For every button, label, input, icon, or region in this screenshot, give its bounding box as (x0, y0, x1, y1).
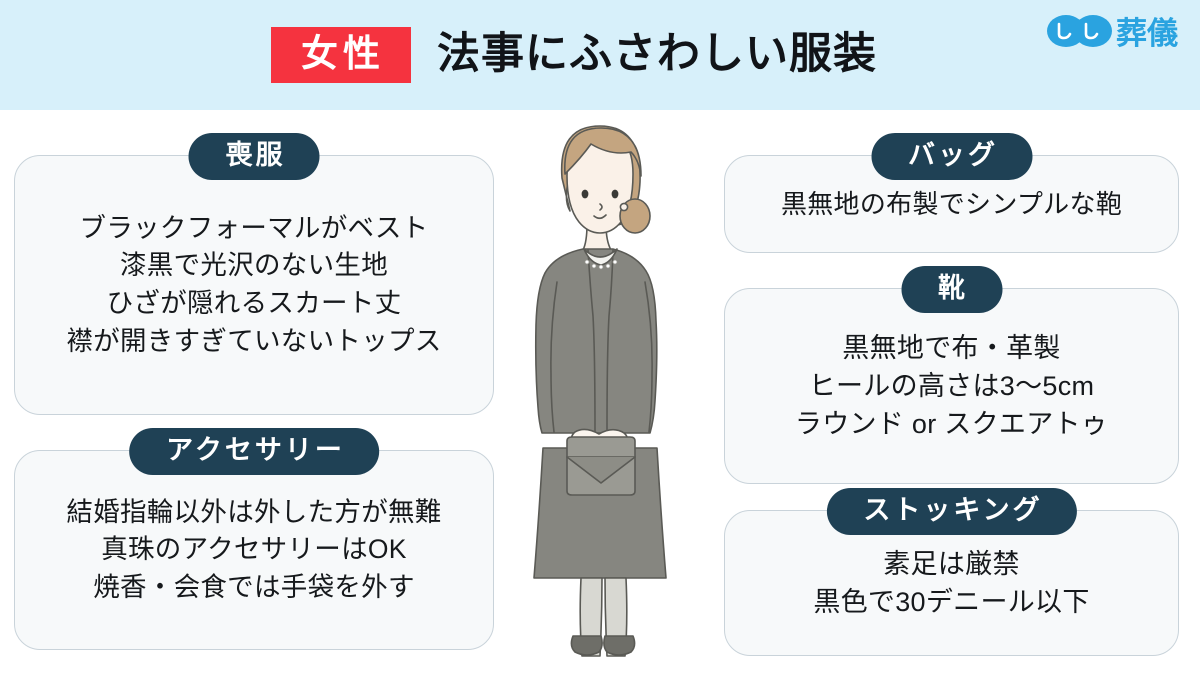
panel-line: 結婚指輪以外は外した方が無難 (15, 494, 493, 532)
panel-shoes: 黒無地で布・革製 ヒールの高さは3〜5cm ラウンド or スクエアトゥ 靴 (724, 266, 1179, 484)
panel-bag: 黒無地の布製でシンプルな鞄 バッグ (724, 133, 1179, 253)
panel-line: ヒールの高さは3〜5cm (725, 367, 1178, 405)
panel-body: 黒無地で布・革製 ヒールの高さは3〜5cm ラウンド or スクエアトゥ (725, 329, 1178, 444)
logo-circles-icon (1047, 14, 1113, 53)
panel-tab-shoes: 靴 (901, 266, 1002, 313)
logo-wordmark: 葬儀 (1116, 18, 1178, 49)
panel-line: 漆黒で光沢のない生地 (15, 247, 493, 285)
panel-card: 黒無地で布・革製 ヒールの高さは3〜5cm ラウンド or スクエアトゥ (724, 288, 1179, 484)
gender-badge: 女性 (271, 27, 411, 84)
panel-line: ひざが隠れるスカート丈 (15, 285, 493, 323)
panel-tab-mofuku: 喪服 (189, 133, 320, 180)
panel-line: 襟が開きすぎていないトップス (15, 323, 493, 361)
panel-tab-accessory: アクセサリー (129, 428, 379, 475)
woman-illustration (505, 112, 695, 657)
header-inner: 女性 法事にふさわしい服装 (271, 27, 877, 84)
infographic-root: 女性 法事にふさわしい服装 葬儀 ブラックフォーマルがベスト 漆黒で光沢のない生… (0, 0, 1200, 675)
panel-accessory: 結婚指輪以外は外した方が無難 真珠のアクセサリーはOK 焼香・会食では手袋を外す… (14, 428, 494, 650)
panel-line: 黒無地の布製でシンプルな鞄 (725, 186, 1178, 223)
panel-stocking: 素足は厳禁 黒色で30デニール以下 ストッキング (724, 488, 1179, 656)
panel-line: 真珠のアクセサリーはOK (15, 531, 493, 569)
panel-line: ラウンド or スクエアトゥ (725, 405, 1178, 443)
page-title: 法事にふさわしい服装 (437, 31, 877, 78)
panel-line: ブラックフォーマルがベスト (15, 210, 493, 248)
panel-body: 結婚指輪以外は外した方が無難 真珠のアクセサリーはOK 焼香・会食では手袋を外す (15, 494, 493, 607)
panel-card: 結婚指輪以外は外した方が無難 真珠のアクセサリーはOK 焼香・会食では手袋を外す (14, 450, 494, 650)
panel-body: 素足は厳禁 黒色で30デニール以下 (725, 545, 1178, 622)
panel-body: ブラックフォーマルがベスト 漆黒で光沢のない生地 ひざが隠れるスカート丈 襟が開… (15, 210, 493, 361)
panel-body: 黒無地の布製でシンプルな鞄 (725, 186, 1178, 223)
panel-line: 焼香・会食では手袋を外す (15, 569, 493, 607)
panel-tab-stocking: ストッキング (826, 488, 1076, 535)
panel-card: ブラックフォーマルがベスト 漆黒で光沢のない生地 ひざが隠れるスカート丈 襟が開… (14, 155, 494, 415)
panel-line: 素足は厳禁 (725, 545, 1178, 583)
panel-line: 黒色で30デニール以下 (725, 583, 1178, 621)
brand-logo: 葬儀 (1047, 14, 1178, 53)
panel-tab-bag: バッグ (871, 133, 1032, 180)
panel-mofuku: ブラックフォーマルがベスト 漆黒で光沢のない生地 ひざが隠れるスカート丈 襟が開… (14, 133, 494, 415)
panel-line: 黒無地で布・革製 (725, 329, 1178, 367)
page-header: 女性 法事にふさわしい服装 葬儀 (0, 0, 1200, 110)
